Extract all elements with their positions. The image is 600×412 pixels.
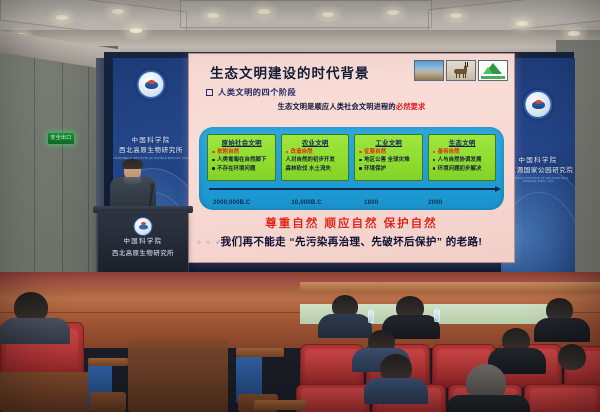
sanjiangyuan-national-park-logo: [478, 60, 508, 81]
bullet-dot-icon: [359, 159, 362, 162]
bullet-dot-icon: [212, 159, 215, 162]
tibetan-antelope-photo: [446, 60, 476, 81]
slide-subheading: 生态文明是顺应人类社会文明进程的必然要求: [196, 102, 507, 112]
ceiling-light: [256, 8, 272, 15]
stage-point: 地区公害 全球灾难: [364, 157, 410, 164]
audience-shoulders: [318, 314, 372, 338]
stage-title: 生态文明: [433, 138, 493, 147]
water-bottle: [434, 309, 440, 322]
cas-emblem-icon: [137, 70, 166, 99]
slide-bullet-heading-row: 人类文明的四个阶段: [206, 86, 507, 98]
lecture-hall-photo: 安全出口 中国科学院 西北高原生物研究所 NORTHWEST INSTITUTE…: [0, 0, 600, 412]
cas-emblem-icon: [524, 90, 553, 119]
timeline-tick: 1800: [364, 200, 428, 206]
ceiling-light: [128, 27, 144, 34]
slide-subheading-emphasis: 必然要求: [396, 102, 426, 111]
stage-card: 工业文明 征服自然 地区公害 全球灾难 环境保护: [354, 134, 423, 181]
bullet-dot-icon: [212, 167, 215, 170]
square-bullet-icon: [206, 89, 213, 96]
auditorium-seat[interactable]: [524, 384, 600, 412]
seat-wood-back: [0, 372, 92, 412]
auditorium-seat[interactable]: [296, 384, 370, 412]
stage-title: 工业文明: [359, 138, 419, 147]
exit-sign-label: 安全出口: [50, 136, 71, 141]
stage-keyword: 依附自然: [217, 149, 239, 156]
stage-point: 森林砍伐 水土流失: [286, 166, 332, 173]
stage-point: 不存在环境问题: [217, 166, 255, 173]
exit-sign: 安全出口: [48, 133, 74, 144]
stage-card: 农业文明 改造自然 人对自然的初步开发 森林砍伐 水土流失: [281, 134, 350, 181]
stage-desk-edge: [300, 282, 600, 292]
ceiling-light: [54, 14, 70, 21]
bullet-dot-icon: [359, 151, 362, 154]
stage-card-list: 原始社会文明 依附自然 人类匍匐在自然脚下 不存在环境问题 农业文明 改造自然 …: [207, 134, 496, 181]
podium-line2: 西北高原生物研究所: [98, 248, 188, 257]
bullet-dot-icon: [433, 151, 436, 154]
audience-shoulders: [0, 318, 70, 344]
stage-point: 人对自然的初步开发: [286, 157, 335, 164]
presentation-slide: 生态文明建设的时代背景 人类文明的四个阶段 生态文明是顺应人类社会文明进程的必然…: [188, 53, 515, 263]
timeline-tick: 2000: [428, 200, 498, 206]
bullet-dot-icon: [433, 167, 436, 170]
water-bottle: [368, 310, 374, 323]
bullet-dot-icon: [359, 167, 362, 170]
seat-tray-table[interactable]: [88, 358, 128, 366]
seat-tray-table[interactable]: [236, 348, 284, 357]
stage-point: 人与自然协调发展: [438, 157, 482, 164]
ceiling-light: [320, 11, 336, 18]
stage-title: 原始社会文明: [212, 138, 272, 147]
bullet-dot-icon: [433, 159, 436, 162]
civilization-stages-diagram: 原始社会文明 依附自然 人类匍匐在自然脚下 不存在环境问题 农业文明 改造自然 …: [199, 127, 504, 210]
ceiling-light: [448, 12, 464, 19]
audience-head: [558, 344, 586, 370]
audience-area: [0, 300, 600, 412]
audience-shoulders: [446, 395, 530, 412]
left-banner-line1: 中国科学院: [113, 136, 189, 146]
seat-wood-back: [90, 392, 126, 412]
ceiling-light: [205, 12, 221, 19]
podium-line1: 中国科学院: [98, 236, 188, 245]
left-banner-line2: 西北高原生物研究所: [113, 146, 189, 156]
stage-card: 生态文明 善待自然 人与自然协调发展 环境问题初步解决: [428, 134, 497, 181]
timeline-tick: 10,000B.C: [291, 200, 364, 206]
podium-lectern: 中国科学院 西北高原生物研究所: [98, 211, 188, 273]
slide-thumbnail-strip: [414, 60, 508, 81]
stage-point: 人类匍匐在自然脚下: [217, 157, 266, 164]
audience-shoulders: [534, 318, 590, 342]
stage-card: 原始社会文明 依附自然 人类匍匐在自然脚下 不存在环境问题: [207, 134, 276, 181]
stage-point: 环境保护: [364, 166, 386, 173]
seat-tray-table[interactable]: [254, 400, 306, 410]
bullet-dot-icon: [286, 151, 289, 154]
slide-bottom-line: 我们再不能走 “先污染再治理、先破坏后保护” 的老路!: [189, 234, 514, 249]
timeline-axis-arrow: [209, 188, 496, 190]
stage-keyword: 善待自然: [438, 149, 460, 156]
stage-keyword: 改造自然: [291, 149, 313, 156]
slide-bullet-heading: 人类文明的四个阶段: [218, 86, 296, 98]
bullet-dot-icon: [212, 151, 215, 154]
stage-keyword: 征服自然: [364, 149, 386, 156]
plateau-landscape-photo: [414, 60, 444, 81]
slide-subheading-plain: 生态文明是顺应人类社会文明进程的: [278, 102, 396, 111]
stage-point: 环境问题初步解决: [438, 166, 482, 173]
ceiling-light: [385, 9, 401, 16]
audience-shoulders: [364, 378, 428, 404]
stage-title: 农业文明: [286, 138, 346, 147]
ceiling-light: [566, 30, 582, 37]
timeline-tick: 2000,000B.C: [207, 200, 291, 206]
timeline-tick-labels: 2000,000B.C 10,000B.C 1800 2000: [207, 200, 498, 206]
ceiling-light: [514, 20, 530, 27]
seat-wood-back: [128, 340, 228, 412]
slide-red-slogan: 尊重自然 顺应自然 保护自然: [189, 215, 514, 231]
ceiling-light: [110, 8, 126, 15]
